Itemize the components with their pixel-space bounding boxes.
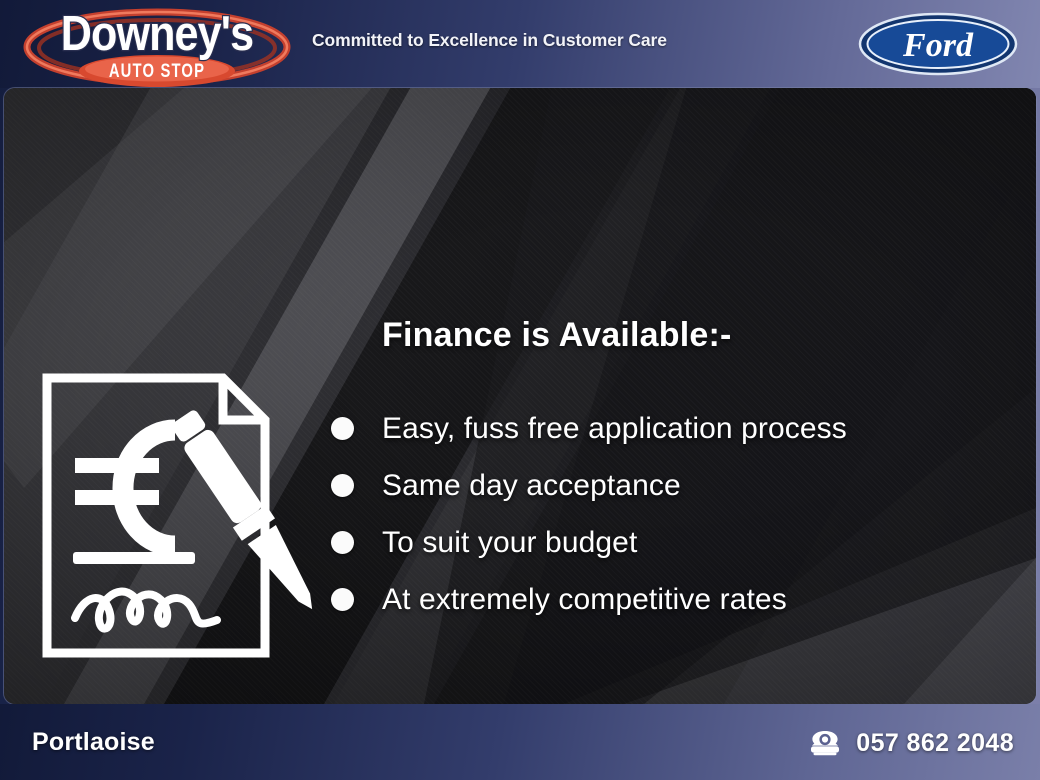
brand-subtitle: AUTO STOP xyxy=(109,60,205,81)
list-item-label: To suit your budget xyxy=(382,526,637,560)
main-content-panel: Finance is Available:- Easy, fuss free a… xyxy=(4,88,1036,704)
location-label: Portlaoise xyxy=(32,728,155,757)
list-item: To suit your budget xyxy=(331,514,847,571)
list-item: Same day acceptance xyxy=(331,457,847,514)
bullet-dot-icon xyxy=(331,417,354,440)
document-euro-signature-icon xyxy=(37,368,327,663)
list-item: At extremely competitive rates xyxy=(331,571,847,628)
list-item-label: Easy, fuss free application process xyxy=(382,412,847,446)
advertisement-banner: Downey's AUTO STOP Committed to Excellen… xyxy=(0,0,1040,780)
brand-name: Downey's xyxy=(61,5,253,60)
list-item: Easy, fuss free application process xyxy=(331,400,847,457)
bullet-dot-icon xyxy=(331,474,354,497)
footer-bar: Portlaoise 057 862 2048 xyxy=(0,704,1040,780)
contact-block[interactable]: 057 862 2048 xyxy=(808,728,1014,758)
tagline: Committed to Excellence in Customer Care xyxy=(312,30,667,51)
list-item-label: Same day acceptance xyxy=(382,469,681,503)
telephone-icon xyxy=(808,728,842,758)
ford-logo[interactable]: Ford xyxy=(858,12,1018,76)
downeys-auto-stop-logo[interactable]: Downey's AUTO STOP xyxy=(18,2,296,88)
ford-wordmark: Ford xyxy=(902,27,974,64)
benefits-list: Easy, fuss free application process Same… xyxy=(331,400,847,628)
bullet-dot-icon xyxy=(331,588,354,611)
phone-number[interactable]: 057 862 2048 xyxy=(856,729,1014,758)
page-title: Finance is Available:- xyxy=(382,316,732,355)
header-bar: Downey's AUTO STOP Committed to Excellen… xyxy=(0,0,1040,88)
bullet-dot-icon xyxy=(331,531,354,554)
list-item-label: At extremely competitive rates xyxy=(382,583,787,617)
